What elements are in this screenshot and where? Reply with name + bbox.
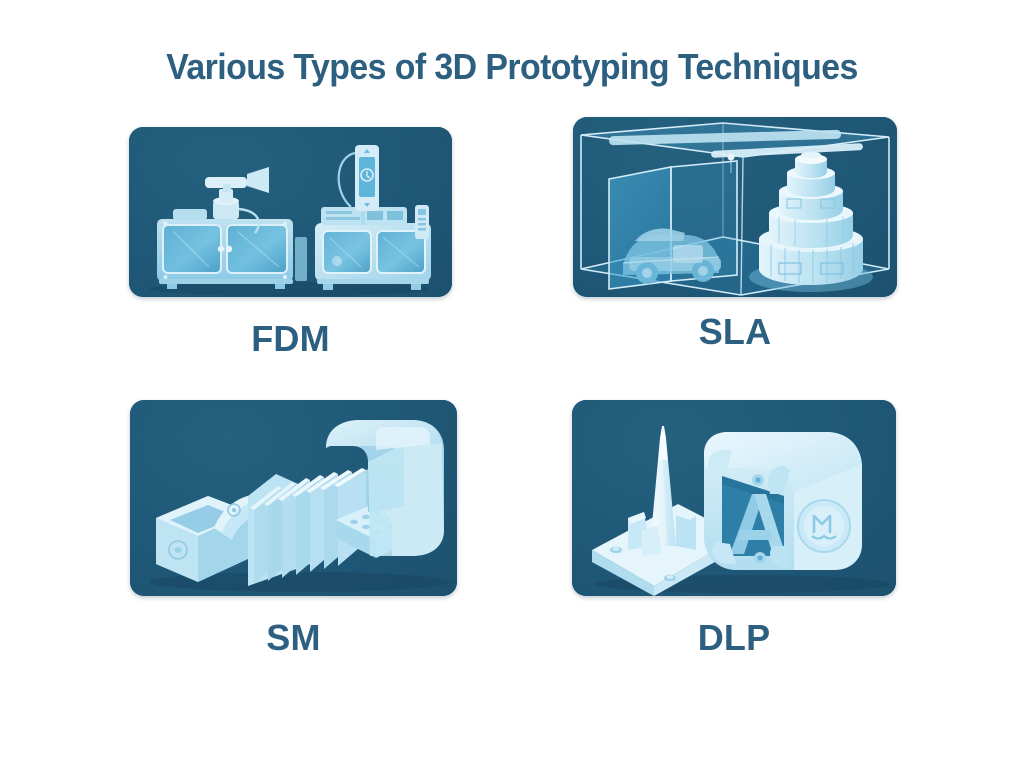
technique-label-fdm: FDM [129,318,452,360]
technique-card-dlp[interactable] [572,400,896,596]
slide-root: Various Types of 3D Prototyping Techniqu… [0,0,1024,768]
sm-layered-sheet-illustration [130,400,457,596]
technique-card-sm[interactable] [130,400,457,596]
technique-label-sm: SM [130,617,457,659]
technique-card-grid: FDM [0,0,1024,768]
sla-resin-vat-illustration [573,117,897,297]
dlp-build-platform-illustration [572,400,896,596]
technique-card-fdm[interactable] [129,127,452,297]
fdm-printer-illustration [129,127,452,297]
technique-label-sla: SLA [573,311,897,353]
technique-card-sla[interactable] [573,117,897,297]
technique-label-dlp: DLP [572,617,896,659]
